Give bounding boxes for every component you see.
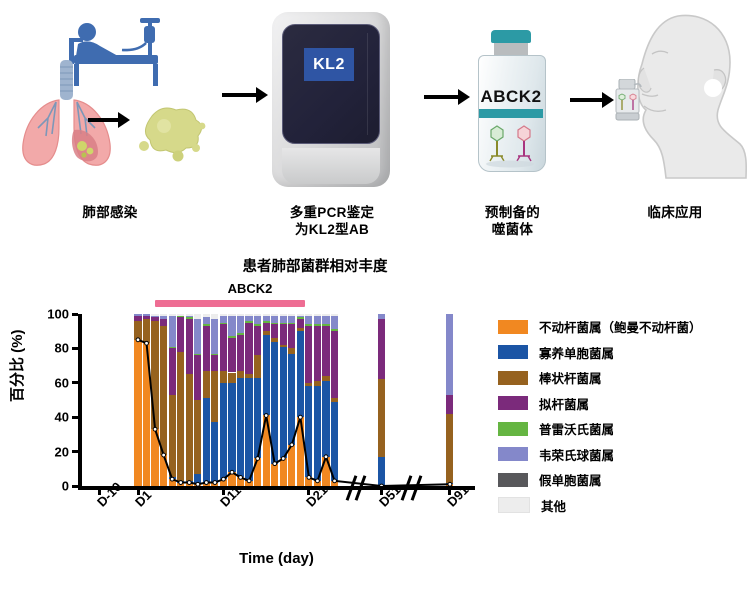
legend-swatch bbox=[498, 473, 528, 487]
legend-item[interactable]: 拟杆菌属 bbox=[498, 391, 753, 417]
y-tick-label: 80 bbox=[55, 341, 69, 356]
relative-abundance-chart: 患者肺部菌群相对丰度 ABCK2 百分比 (%) Time (day) 0204… bbox=[0, 250, 755, 592]
lungs-icon bbox=[12, 58, 122, 173]
workflow-caption-clinical: 临床应用 bbox=[610, 205, 740, 222]
legend-label: 其他 bbox=[541, 496, 566, 515]
legend-label: 寡养单胞菌属 bbox=[539, 343, 614, 362]
y-tick-label: 40 bbox=[55, 410, 69, 425]
legend-swatch bbox=[498, 396, 528, 410]
acinetobacter-line-trace bbox=[78, 314, 475, 486]
plot-area: 020406080100 D-10D1D11D21D51D91 bbox=[78, 314, 475, 486]
y-tick-label: 0 bbox=[62, 479, 69, 494]
workflow-panel: 肺部感染 KL2 多重PCR鉴定 为KL2型AB ABCK2 bbox=[0, 0, 755, 250]
x-axis-label: Time (day) bbox=[78, 550, 475, 567]
legend-swatch bbox=[498, 371, 528, 385]
sputum-sample-icon bbox=[130, 100, 210, 165]
legend-item[interactable]: 普雷沃氏菌属 bbox=[498, 416, 753, 442]
legend-swatch bbox=[498, 320, 528, 334]
treatment-duration-bar bbox=[155, 300, 305, 307]
legend-swatch bbox=[498, 422, 528, 436]
vial-label-text: ABCK2 bbox=[478, 87, 544, 107]
legend-item[interactable]: 韦荣氏球菌属 bbox=[498, 442, 753, 468]
legend-label: 拟杆菌属 bbox=[539, 394, 589, 413]
legend-swatch bbox=[498, 345, 528, 359]
machine-screen-badge: KL2 bbox=[304, 48, 354, 81]
legend-item[interactable]: 棒状杆菌属 bbox=[498, 365, 753, 391]
y-tick-label: 60 bbox=[55, 375, 69, 390]
legend-label: 韦荣氏球菌属 bbox=[539, 445, 614, 464]
legend-item[interactable]: 不动杆菌属（鲍曼不动杆菌） bbox=[498, 314, 753, 340]
phage-vial-icon: ABCK2 bbox=[478, 30, 544, 170]
legend-item[interactable]: 其他 bbox=[498, 493, 753, 519]
workflow-caption-lung-infection: 肺部感染 bbox=[40, 205, 180, 222]
pcr-machine-icon: KL2 bbox=[272, 12, 390, 187]
legend-swatch bbox=[498, 447, 528, 461]
workflow-caption-pcr: 多重PCR鉴定 为KL2型AB bbox=[258, 205, 406, 239]
legend-item[interactable]: 假单胞菌属 bbox=[498, 467, 753, 493]
legend-label: 棒状杆菌属 bbox=[539, 368, 602, 387]
legend-label: 不动杆菌属（鲍曼不动杆菌） bbox=[539, 317, 702, 336]
chart-title: 患者肺部菌群相对丰度 bbox=[150, 255, 480, 276]
treatment-annotation-label: ABCK2 bbox=[170, 281, 330, 296]
legend-label: 普雷沃氏菌属 bbox=[539, 419, 614, 438]
y-tick-label: 100 bbox=[47, 307, 69, 322]
legend-swatch bbox=[498, 497, 530, 513]
legend-item[interactable]: 寡养单胞菌属 bbox=[498, 340, 753, 366]
inhaler-icon bbox=[614, 79, 642, 127]
x-tick-label: D1 bbox=[132, 487, 154, 509]
workflow-caption-phage: 预制备的 噬菌体 bbox=[455, 205, 570, 239]
y-tick-label: 20 bbox=[55, 444, 69, 459]
legend-label: 假单胞菌属 bbox=[539, 470, 602, 489]
y-axis-label: 百分比 (%) bbox=[6, 330, 27, 403]
chart-legend: 不动杆菌属（鲍曼不动杆菌）寡养单胞菌属棒状杆菌属拟杆菌属普雷沃氏菌属韦荣氏球菌属… bbox=[498, 314, 753, 518]
